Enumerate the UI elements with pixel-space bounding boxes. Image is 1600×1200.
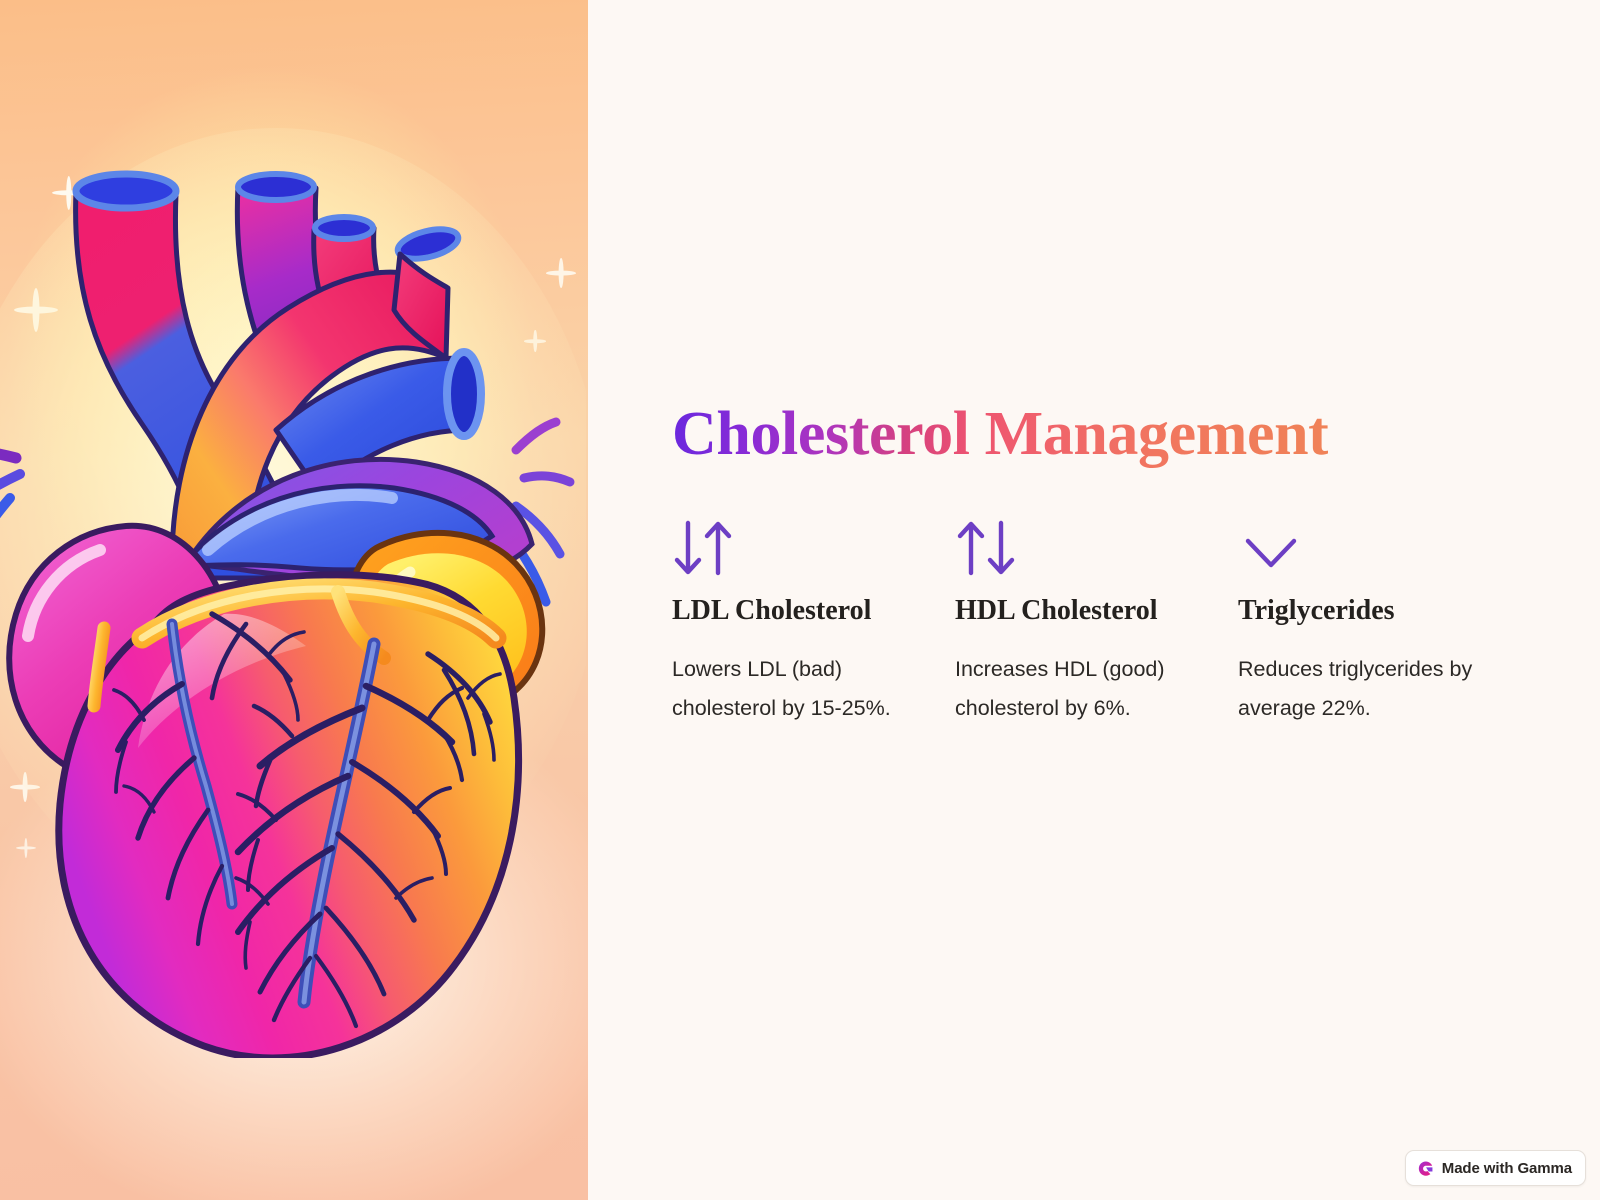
arrow-down-up-icon <box>672 512 943 584</box>
feature-body: Increases HDL (good) cholesterol by 6%. <box>955 650 1191 728</box>
arrow-up-down-icon <box>955 512 1226 584</box>
gamma-badge-label: Made with Gamma <box>1442 1160 1572 1177</box>
chevron-down-icon <box>1238 512 1509 584</box>
feature-heading: HDL Cholesterol <box>955 594 1226 628</box>
gamma-logo-icon <box>1417 1160 1434 1177</box>
made-with-gamma-badge[interactable]: Made with Gamma <box>1405 1150 1586 1186</box>
feature-heading: LDL Cholesterol <box>672 594 943 628</box>
slide: Cholesterol Management LDL Cholesterol L… <box>0 0 1600 1200</box>
anatomical-heart-illustration <box>0 58 586 1058</box>
feature-body: Lowers LDL (bad) cholesterol by 15-25%. <box>672 650 908 728</box>
feature-columns: LDL Cholesterol Lowers LDL (bad) cholest… <box>672 512 1542 728</box>
content-panel: Cholesterol Management LDL Cholesterol L… <box>588 0 1600 1200</box>
feature-column-triglycerides: Triglycerides Reduces triglycerides by a… <box>1238 512 1521 728</box>
feature-column-hdl: HDL Cholesterol Increases HDL (good) cho… <box>955 512 1238 728</box>
image-panel <box>0 0 588 1200</box>
feature-body: Reduces triglycerides by average 22%. <box>1238 650 1496 728</box>
feature-column-ldl: LDL Cholesterol Lowers LDL (bad) cholest… <box>672 512 955 728</box>
page-title: Cholesterol Management <box>672 400 1328 469</box>
feature-heading: Triglycerides <box>1238 594 1509 628</box>
